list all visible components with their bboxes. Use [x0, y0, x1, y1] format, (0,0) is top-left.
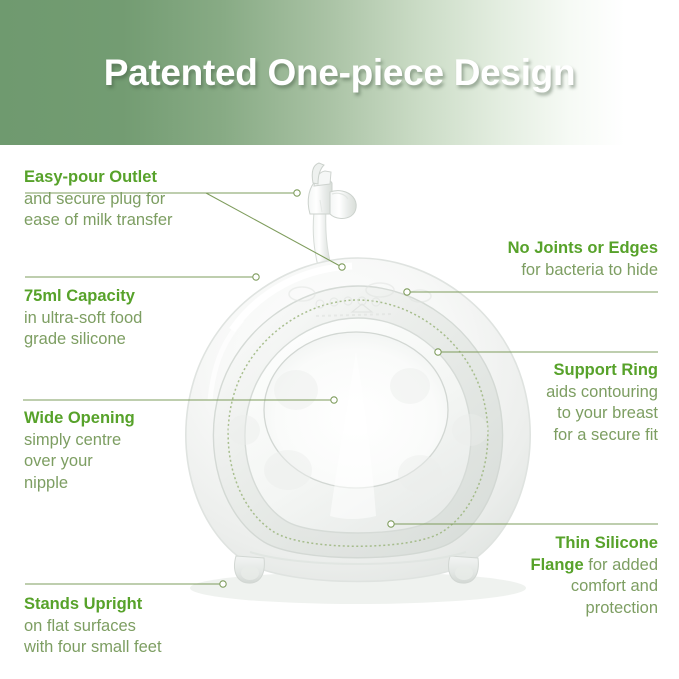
callout-body-line: nipple	[24, 474, 68, 492]
callout-heading: Support Ring	[554, 361, 658, 379]
callout-heading: Wide Opening	[24, 409, 135, 427]
callout-thin-flange: Thin Silicone Flange for added comfort a…	[368, 533, 658, 619]
callout-capacity: 75ml Capacity in ultra-soft food grade s…	[24, 286, 264, 351]
callout-heading: Thin Silicone	[555, 534, 658, 552]
callout-heading: Easy-pour Outlet	[24, 168, 157, 186]
callout-body-line: grade silicone	[24, 330, 126, 348]
callout-body-line: comfort and	[571, 577, 658, 595]
callout-heading: Stands Upright	[24, 595, 142, 613]
callout-body-line: over your	[24, 452, 93, 470]
callout-body-line: for added	[584, 556, 658, 574]
callout-body-line: and secure plug for	[24, 190, 165, 208]
callout-heading: 75ml Capacity	[24, 287, 135, 305]
callout-body-line: aids contouring	[546, 383, 658, 401]
callout-body-line: on flat surfaces	[24, 617, 136, 635]
callout-body-line: protection	[586, 599, 658, 617]
callout-heading: Flange	[531, 556, 584, 574]
callout-body-line: for a secure fit	[553, 426, 658, 444]
callout-body-line: ease of milk transfer	[24, 211, 173, 229]
callout-wide-opening: Wide Opening simply centre over your nip…	[24, 408, 244, 494]
callout-support-ring: Support Ring aids contouring to your bre…	[368, 360, 658, 446]
callout-body-line: simply centre	[24, 431, 121, 449]
callout-body-line: for bacteria to hide	[521, 261, 658, 279]
easy-pour-spout	[308, 163, 356, 266]
callout-stands-upright: Stands Upright on flat surfaces with fou…	[24, 594, 274, 659]
callout-easy-pour-outlet: Easy-pour Outlet and secure plug for eas…	[24, 167, 284, 232]
infographic-page: Patented One-piece Design	[0, 0, 679, 679]
callout-body-line: with four small feet	[24, 638, 162, 656]
callout-body-line: in ultra-soft food	[24, 309, 142, 327]
callout-no-joints: No Joints or Edges for bacteria to hide	[368, 238, 658, 281]
callout-body-line: to your breast	[557, 404, 658, 422]
callout-heading: No Joints or Edges	[508, 239, 658, 257]
